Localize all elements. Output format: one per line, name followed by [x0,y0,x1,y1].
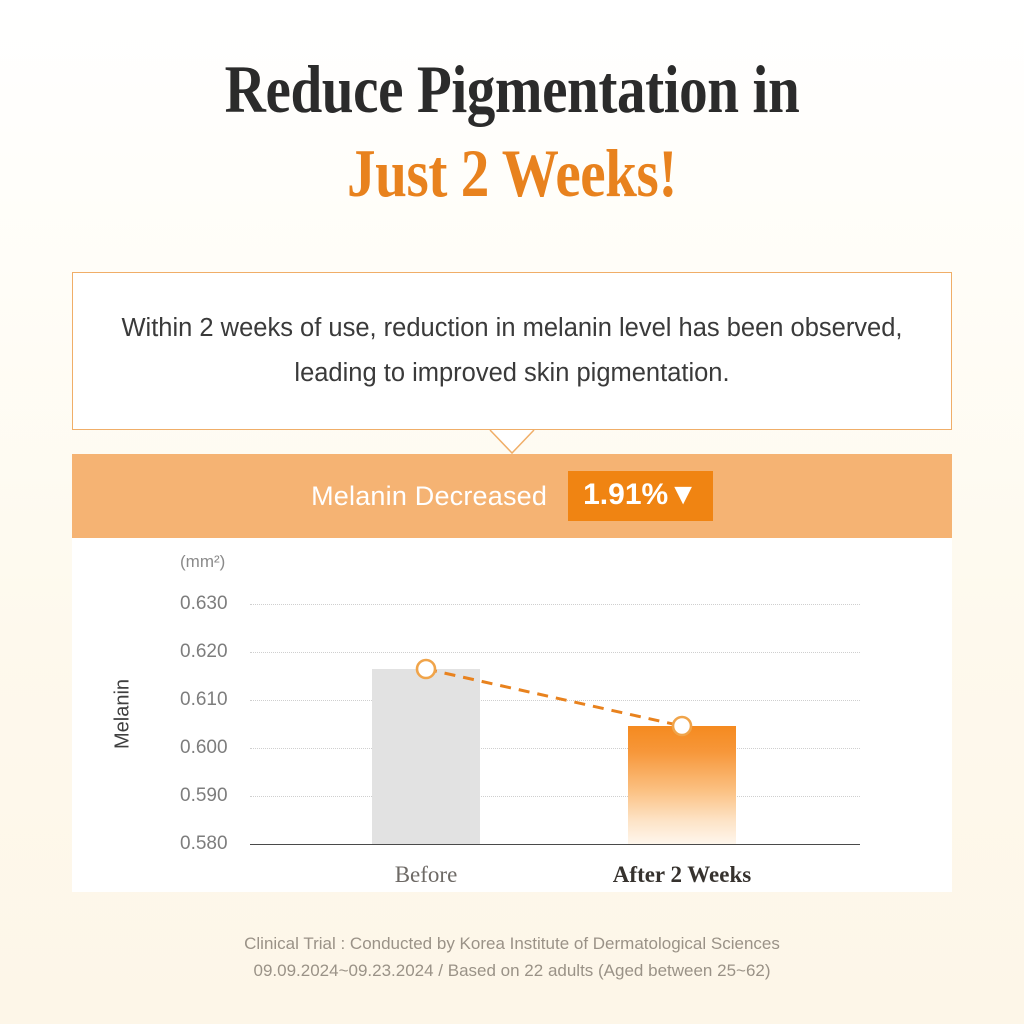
result-banner-label: Melanin Decreased [311,481,547,512]
x-axis-label-before: Before [395,862,458,888]
chart-card: Melanin Decreased 1.91%▼ Melanin (mm²) 0… [72,454,952,892]
callout-box: Within 2 weeks of use, reduction in mela… [72,272,952,430]
callout-pointer-icon [489,429,535,455]
headline-line-1: Reduce Pigmentation in [82,55,942,123]
data-point-before [417,660,435,678]
melanin-bar-chart: Melanin (mm²) 0.630 0.620 0.610 0.600 0.… [72,538,952,892]
callout-text: Within 2 weeks of use, reduction in mela… [112,306,912,397]
data-point-after [673,717,691,735]
page-title: Reduce Pigmentation in Just 2 Weeks! [0,55,1024,207]
x-axis-label-after: After 2 Weeks [613,862,751,888]
result-badge: 1.91%▼ [568,471,713,521]
trend-line-layer [72,538,952,892]
headline-line-2: Just 2 Weeks! [82,139,942,207]
footnote: Clinical Trial : Conducted by Korea Inst… [0,930,1024,984]
result-banner: Melanin Decreased 1.91%▼ [72,454,952,538]
result-badge-value: 1.91%▼ [583,478,698,512]
footnote-line-2: 09.09.2024~09.23.2024 / Based on 22 adul… [0,957,1024,984]
footnote-line-1: Clinical Trial : Conducted by Korea Inst… [0,930,1024,957]
